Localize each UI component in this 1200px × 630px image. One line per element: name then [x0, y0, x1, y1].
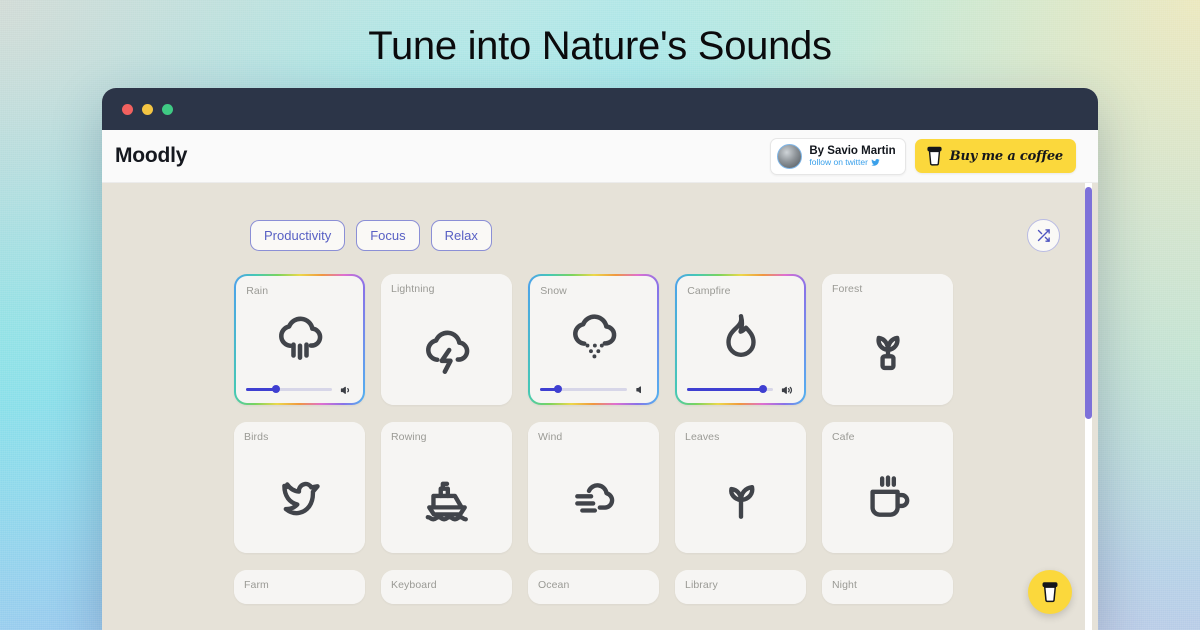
speaker-wave2-icon[interactable] [780, 382, 795, 397]
maximize-icon[interactable] [162, 104, 173, 115]
poster-canvas: Tune into Nature's Sounds Moodly By Savi… [0, 0, 1200, 630]
flame-icon [677, 297, 804, 376]
volume-control [530, 376, 657, 403]
filter-toolbar: Productivity Focus Relax [102, 183, 1098, 252]
sound-card-label: Birds [234, 422, 365, 443]
filter-chip-focus[interactable]: Focus [356, 220, 419, 251]
sound-card-label: Night [822, 570, 953, 591]
sound-card-inner: Cafe [822, 422, 953, 553]
sound-card-label: Farm [234, 570, 365, 591]
app-header: Moodly By Savio Martin follow on twitter [102, 130, 1098, 183]
sound-card-label: Wind [528, 422, 659, 443]
cloud-snow-icon [530, 297, 657, 376]
filter-chip-relax[interactable]: Relax [431, 220, 492, 251]
sound-card-label: Ocean [528, 570, 659, 591]
page-title: Tune into Nature's Sounds [0, 24, 1200, 69]
floating-buy-coffee-button[interactable] [1028, 570, 1072, 614]
author-twitter-label: follow on twitter [809, 158, 868, 168]
sound-card-label: Rowing [381, 422, 512, 443]
twitter-bird-icon [871, 158, 880, 167]
sound-card-snow[interactable]: Snow [528, 274, 659, 405]
app-brand: Moodly [115, 144, 187, 168]
volume-slider-thumb[interactable] [759, 385, 767, 393]
seedling-icon [675, 443, 806, 553]
sound-card-campfire[interactable]: Campfire [675, 274, 806, 405]
speaker-wave-icon[interactable] [339, 382, 354, 397]
coffee-cup-icon [926, 146, 943, 166]
sound-card-label: Campfire [677, 276, 804, 297]
volume-slider-thumb[interactable] [272, 385, 280, 393]
sound-card-grid-row3: FarmKeyboardOceanLibraryNight [102, 553, 1098, 604]
sound-card-birds[interactable]: Birds [234, 422, 365, 553]
volume-slider[interactable] [687, 388, 773, 391]
sound-card-lightning[interactable]: Lightning [381, 274, 512, 405]
minimize-icon[interactable] [142, 104, 153, 115]
cloud-rain-icon [236, 297, 363, 376]
sound-card-label: Snow [530, 276, 657, 297]
sound-card-label: Library [675, 570, 806, 591]
browser-window: Moodly By Savio Martin follow on twitter [102, 88, 1098, 630]
sound-card-library[interactable]: Library [675, 570, 806, 604]
sound-card-inner: Forest [822, 274, 953, 405]
sound-card-label: Rain [236, 276, 363, 297]
buy-me-a-coffee-button[interactable]: Buy me a coffee [915, 139, 1076, 173]
volume-slider[interactable] [540, 388, 627, 391]
sound-card-inner: Wind [528, 422, 659, 553]
sound-card-leaves[interactable]: Leaves [675, 422, 806, 553]
sound-card-inner: Birds [234, 422, 365, 553]
sound-card-inner: Rain [236, 276, 363, 403]
sound-card-rain[interactable]: Rain [234, 274, 365, 405]
sound-card-inner: Night [822, 570, 953, 604]
avatar [777, 144, 802, 169]
sound-card-label: Keyboard [381, 570, 512, 591]
shuffle-icon [1036, 228, 1051, 243]
sound-card-grid: RainLightningSnowCampfireForestBirdsRowi… [102, 252, 1098, 553]
cloud-lightning-icon [381, 295, 512, 405]
sound-card-inner: Keyboard [381, 570, 512, 604]
shuffle-button[interactable] [1027, 219, 1060, 252]
speaker-low-icon[interactable] [634, 382, 648, 396]
app-header-actions: By Savio Martin follow on twitter Buy me… [770, 138, 1076, 175]
sound-card-night[interactable]: Night [822, 570, 953, 604]
volume-slider[interactable] [246, 388, 332, 391]
boat-icon [381, 443, 512, 553]
sound-card-inner: Library [675, 570, 806, 604]
sound-card-inner: Rowing [381, 422, 512, 553]
sound-card-inner: Farm [234, 570, 365, 604]
volume-slider-fill [687, 388, 762, 391]
sound-card-label: Forest [822, 274, 953, 295]
sound-card-farm[interactable]: Farm [234, 570, 365, 604]
sound-card-label: Cafe [822, 422, 953, 443]
volume-control [236, 376, 363, 403]
sound-card-inner: Ocean [528, 570, 659, 604]
sound-card-label: Leaves [675, 422, 806, 443]
volume-slider-thumb[interactable] [554, 385, 562, 393]
coffee-mug-icon [822, 443, 953, 553]
sound-card-inner: Leaves [675, 422, 806, 553]
sound-card-inner: Snow [530, 276, 657, 403]
app-body: Productivity Focus Relax RainLightningSn… [102, 183, 1098, 630]
sound-card-inner: Campfire [677, 276, 804, 403]
sound-card-label: Lightning [381, 274, 512, 295]
filter-chip-productivity[interactable]: Productivity [250, 220, 345, 251]
sound-card-keyboard[interactable]: Keyboard [381, 570, 512, 604]
bird-icon [234, 443, 365, 553]
scrollbar-thumb[interactable] [1085, 187, 1092, 419]
window-titlebar [102, 88, 1098, 130]
sound-card-rowing[interactable]: Rowing [381, 422, 512, 553]
author-twitter-link[interactable]: follow on twitter [809, 158, 895, 168]
volume-control [677, 376, 804, 403]
sound-card-cafe[interactable]: Cafe [822, 422, 953, 553]
sound-card-wind[interactable]: Wind [528, 422, 659, 553]
sound-card-ocean[interactable]: Ocean [528, 570, 659, 604]
potted-plant-icon [822, 295, 953, 405]
coffee-cup-icon [1041, 581, 1059, 603]
author-chip[interactable]: By Savio Martin follow on twitter [770, 138, 905, 175]
close-icon[interactable] [122, 104, 133, 115]
wind-cloud-icon [528, 443, 659, 553]
sound-card-inner: Lightning [381, 274, 512, 405]
author-text: By Savio Martin follow on twitter [809, 145, 895, 168]
buy-me-a-coffee-label: Buy me a coffee [950, 149, 1063, 164]
sound-card-forest[interactable]: Forest [822, 274, 953, 405]
author-name: By Savio Martin [809, 145, 895, 158]
